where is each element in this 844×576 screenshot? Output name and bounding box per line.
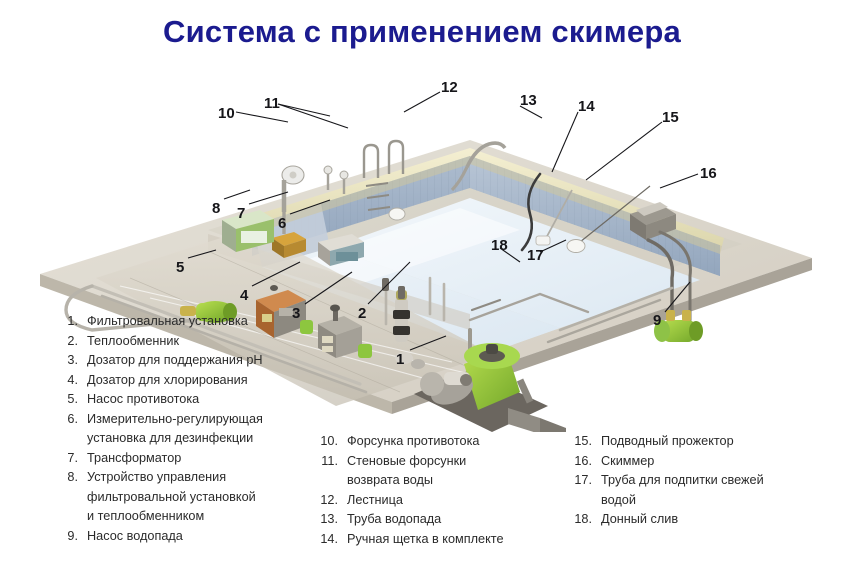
legend-item-number: 9. (52, 527, 87, 547)
legend-item-number: 14. (312, 530, 347, 550)
legend-item-label: Измерительно-регулирующаяустановка для д… (87, 410, 314, 449)
legend-item-line: Стеновые форсунки (347, 452, 560, 472)
legend-item-number: 15. (566, 432, 601, 452)
callout-14: 14 (578, 99, 595, 114)
legend-item-label: Насос противотока (87, 390, 314, 410)
legend-item: 11.Стеновые форсункивозврата воды (312, 452, 560, 491)
callout-9: 9 (653, 313, 661, 328)
callout-2: 2 (358, 306, 366, 321)
legend-item-line: Трансформатор (87, 449, 314, 469)
legend-item-line: Форсунка противотока (347, 432, 560, 452)
legend-item-label: Донный слив (601, 510, 834, 530)
legend-column-3: 15.Подводный прожектор16.Скиммер17.Труба… (566, 432, 834, 530)
legend-item-line: и теплообменником (87, 507, 314, 527)
legend-item-number: 5. (52, 390, 87, 410)
legend-item: 10.Форсунка противотока (312, 432, 560, 452)
callout-12: 12 (441, 80, 458, 95)
legend-item: 5.Насос противотока (52, 390, 314, 410)
callout-13: 13 (520, 93, 537, 108)
legend-item-number: 16. (566, 452, 601, 472)
legend-item-label: Дозатор для хлорирования (87, 371, 314, 391)
legend-item-line: Дозатор для хлорирования (87, 371, 314, 391)
legend-item: 3.Дозатор для поддержания pH (52, 351, 314, 371)
callout-6: 6 (278, 216, 286, 231)
callout-7: 7 (237, 206, 245, 221)
legend-item-line: Измерительно-регулирующая (87, 410, 314, 430)
legend-item-label: Ручная щетка в комплекте (347, 530, 560, 550)
legend-item: 9.Насос водопада (52, 527, 314, 547)
legend-item-number: 12. (312, 491, 347, 511)
legend-item-number: 7. (52, 449, 87, 469)
legend-item-label: Труба водопада (347, 510, 560, 530)
legend-item-number: 11. (312, 452, 347, 472)
callout-16: 16 (700, 166, 717, 181)
legend-item: 2.Теплообменник (52, 332, 314, 352)
legend-column-2: 10.Форсунка противотока11.Стеновые форсу… (312, 432, 560, 549)
legend-item-label: Дозатор для поддержания pH (87, 351, 314, 371)
legend-item-number: 13. (312, 510, 347, 530)
legend-item-label: Трансформатор (87, 449, 314, 469)
legend-item-line: Скиммер (601, 452, 834, 472)
legend-item-line: Дозатор для поддержания pH (87, 351, 314, 371)
legend-item: 16.Скиммер (566, 452, 834, 472)
legend-item: 13.Труба водопада (312, 510, 560, 530)
callout-18: 18 (491, 238, 508, 253)
legend-item-label: Теплообменник (87, 332, 314, 352)
legend-item-line: Фильтровальная установка (87, 312, 314, 332)
legend-item-label: Форсунка противотока (347, 432, 560, 452)
legend-item-number: 6. (52, 410, 87, 430)
callout-11: 11 (264, 96, 280, 111)
callout-8: 8 (212, 201, 220, 216)
legend-item: 14.Ручная щетка в комплекте (312, 530, 560, 550)
legend-item-label: Фильтровальная установка (87, 312, 314, 332)
legend-item: 6.Измерительно-регулирующаяустановка для… (52, 410, 314, 449)
legend-item-number: 2. (52, 332, 87, 352)
legend-item-line: Устройство управления (87, 468, 314, 488)
legend-item-line: Насос противотока (87, 390, 314, 410)
legend-item-line: Труба для подпитки свежей (601, 471, 834, 491)
legend-item-label: Устройство управленияфильтровальной уста… (87, 468, 314, 527)
legend-item-line: возврата воды (347, 471, 560, 491)
legend-item-line: фильтровальной установкой (87, 488, 314, 508)
legend-item-number: 18. (566, 510, 601, 530)
legend-item-number: 10. (312, 432, 347, 452)
callout-1: 1 (396, 352, 404, 367)
legend-item-line: Подводный прожектор (601, 432, 834, 452)
callout-10: 10 (218, 106, 235, 121)
legend-item-number: 8. (52, 468, 87, 488)
callout-4: 4 (240, 288, 248, 303)
legend-item-number: 4. (52, 371, 87, 391)
legend-item-line: Труба водопада (347, 510, 560, 530)
legend-item-label: Скиммер (601, 452, 834, 472)
legend-item: 18.Донный слив (566, 510, 834, 530)
legend-item: 4.Дозатор для хлорирования (52, 371, 314, 391)
legend-item: 17.Труба для подпитки свежейводой (566, 471, 834, 510)
underwater-light-secondary (389, 208, 405, 220)
callout-15: 15 (662, 110, 679, 125)
legend-item-line: Теплообменник (87, 332, 314, 352)
legend-item-line: установка для дезинфекции (87, 429, 314, 449)
legend-item-line: Донный слив (601, 510, 834, 530)
legend-item: 7.Трансформатор (52, 449, 314, 469)
legend-item-line: Лестница (347, 491, 560, 511)
callout-17: 17 (527, 248, 544, 263)
legend-item-number: 1. (52, 312, 87, 332)
page-title: Система с применением скимера (0, 14, 844, 50)
legend-item: 12.Лестница (312, 491, 560, 511)
legend-item: 8.Устройство управленияфильтровальной ус… (52, 468, 314, 527)
legend-item-number: 17. (566, 471, 601, 491)
legend-item-line: водой (601, 491, 834, 511)
legend-item-label: Стеновые форсункивозврата воды (347, 452, 560, 491)
legend-item-label: Лестница (347, 491, 560, 511)
legend-item-line: Насос водопада (87, 527, 314, 547)
legend-item-line: Ручная щетка в комплекте (347, 530, 560, 550)
callout-5: 5 (176, 260, 184, 275)
legend-item: 1.Фильтровальная установка (52, 312, 314, 332)
legend-item-label: Труба для подпитки свежейводой (601, 471, 834, 510)
legend-item-number: 3. (52, 351, 87, 371)
pool-system-diagram-page: Система с применением скимера (0, 0, 844, 576)
legend-item-label: Насос водопада (87, 527, 314, 547)
legend-item: 15.Подводный прожектор (566, 432, 834, 452)
legend-column-1: 1.Фильтровальная установка2.Теплообменни… (52, 312, 314, 546)
legend-item-label: Подводный прожектор (601, 432, 834, 452)
